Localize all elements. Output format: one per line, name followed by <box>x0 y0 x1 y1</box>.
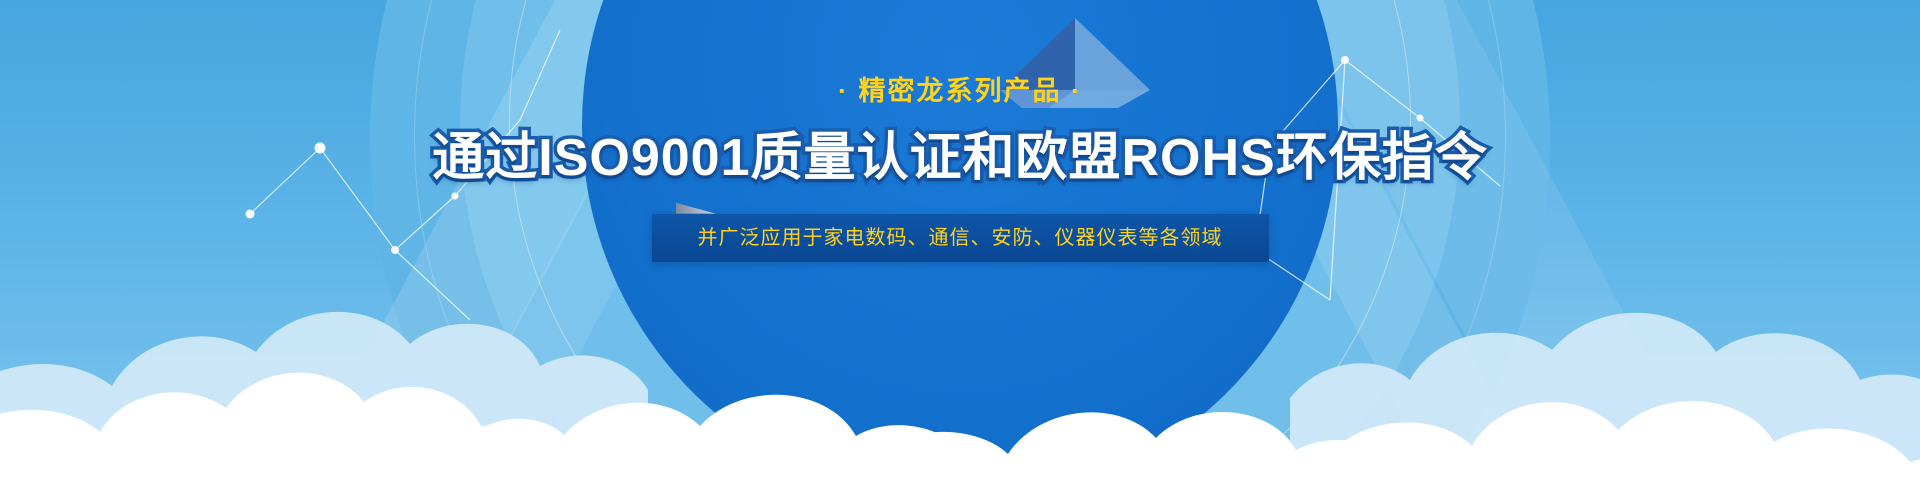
banner-eyebrow: · 精密龙系列产品 · <box>0 78 1920 105</box>
ribbon-fold-corner <box>676 203 716 214</box>
banner-caption-wrap: 并广泛应用于家电数码、通信、安防、仪器仪表等各领域 <box>0 214 1920 262</box>
banner-caption-bar: 并广泛应用于家电数码、通信、安防、仪器仪表等各领域 <box>652 214 1269 262</box>
banner-headline: 通过ISO9001质量认证和欧盟ROHS环保指令 <box>0 131 1920 186</box>
banner-caption-text: 并广泛应用于家电数码、通信、安防、仪器仪表等各领域 <box>698 227 1223 249</box>
promo-banner: · 精密龙系列产品 · 通过ISO9001质量认证和欧盟ROHS环保指令 并广泛… <box>0 0 1920 480</box>
banner-content: · 精密龙系列产品 · 通过ISO9001质量认证和欧盟ROHS环保指令 并广泛… <box>0 0 1920 262</box>
